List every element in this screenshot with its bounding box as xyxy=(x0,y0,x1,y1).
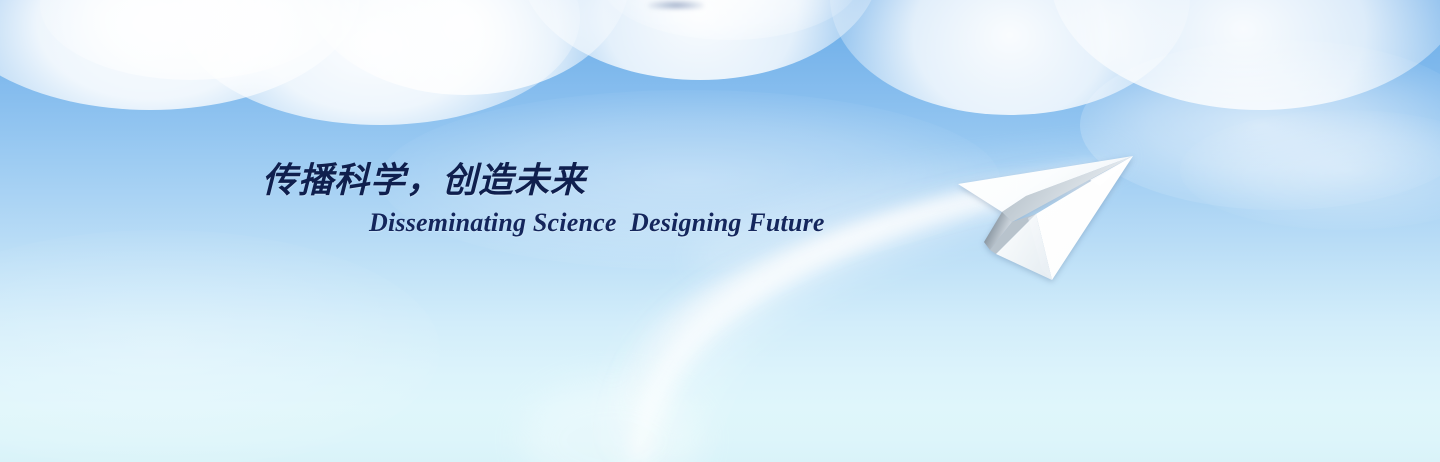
tagline-chinese: 传播科学，创造未来 xyxy=(262,152,586,203)
site-banner: 传播科学，创造未来 Disseminating Science Designin… xyxy=(0,0,1440,462)
tagline-english: Disseminating Science Designing Future xyxy=(369,208,825,238)
banner-tagline-block: 传播科学，创造未来 Disseminating Science Designin… xyxy=(0,0,1440,462)
